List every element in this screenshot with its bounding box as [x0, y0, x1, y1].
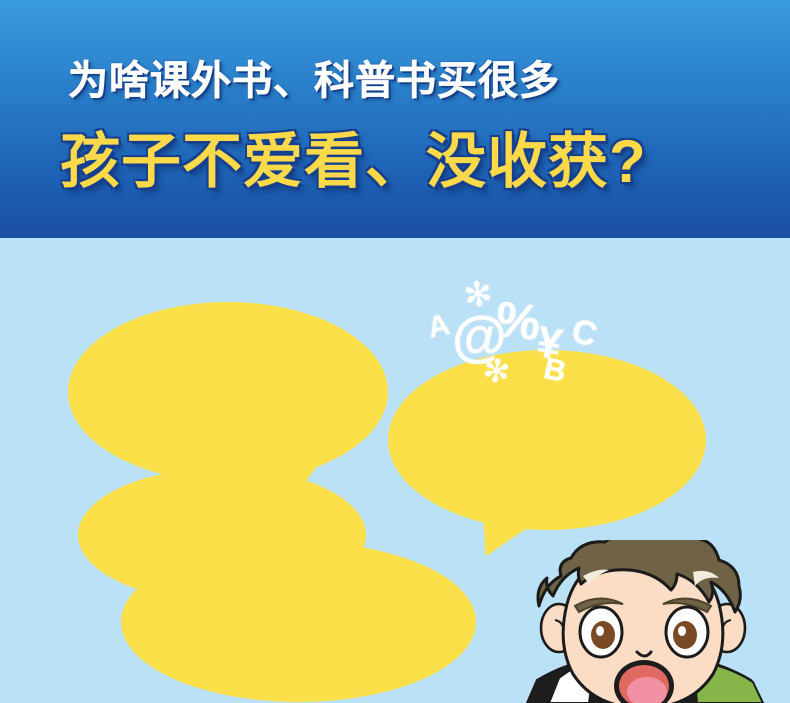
asterisk-symbol-bottom: ✻ — [481, 353, 512, 388]
speech-bubble-tail-1 — [265, 426, 353, 496]
poster-root: 为啥课外书、科普书买很多 孩子不爱看、没收获? 文字多图画少 根本看不下去 还是… — [0, 0, 790, 703]
eye-highlight-right — [678, 626, 686, 636]
headline-primary: 为啥课外书、科普书买很多 — [68, 48, 560, 106]
speech-bubble-fun-plot — [121, 542, 476, 702]
eye-highlight-left — [596, 626, 604, 636]
headline-secondary: 孩子不爱看、没收获? — [60, 113, 647, 200]
confused-boy-illustration — [497, 540, 790, 703]
pupil-right — [673, 621, 697, 649]
percent-symbol: % — [494, 294, 543, 348]
pupil-left — [591, 621, 615, 649]
header-banner: 为啥课外书、科普书买很多 孩子不爱看、没收获? — [0, 0, 790, 238]
